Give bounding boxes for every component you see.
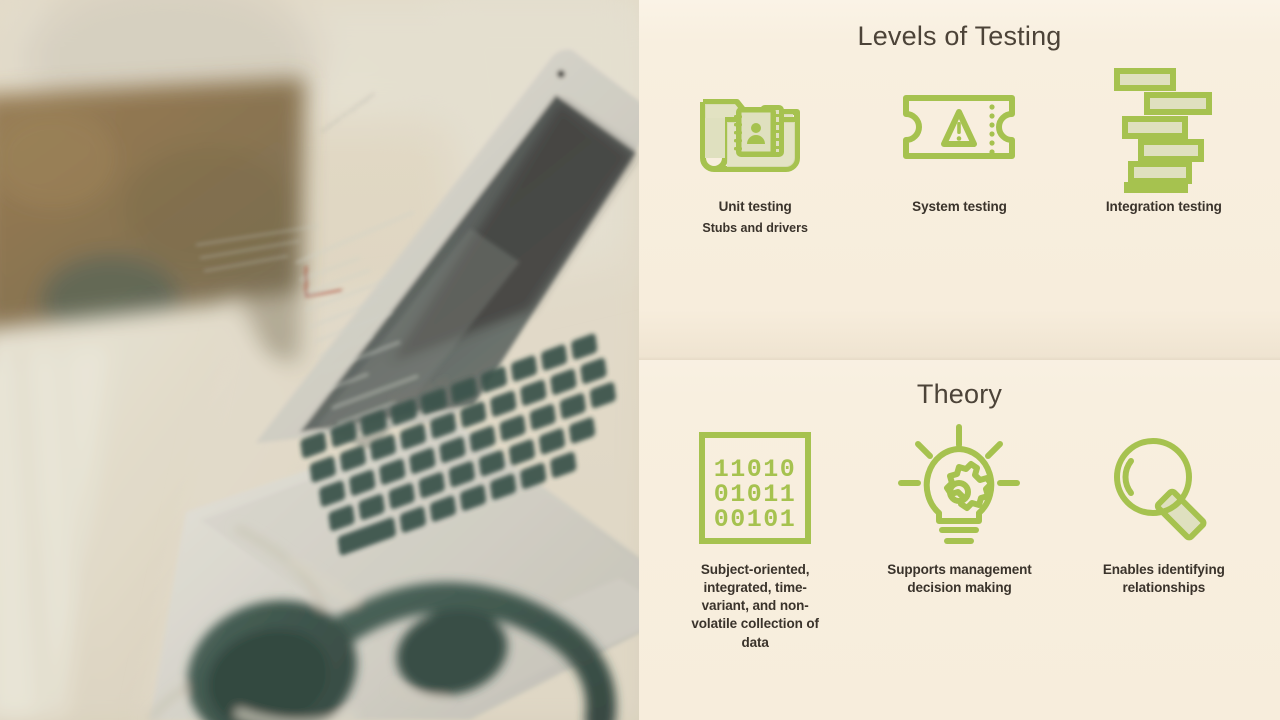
card-supports-management[interactable]: Supports management decision making (857, 416, 1061, 597)
card-label-integration-testing: Integration testing (1106, 198, 1222, 216)
page-title-theory: Theory (639, 360, 1280, 410)
slide-stage: Android ArrayAdapter MacBook Air (0, 0, 1280, 720)
card-sublabel-unit-testing: Stubs and drivers (702, 220, 808, 237)
slide-panels: Levels of Testing (639, 0, 1280, 720)
card-label-enables-identifying: Enables identifying relationships (1089, 561, 1239, 597)
photo-illustration: Android ArrayAdapter MacBook Air (0, 0, 639, 720)
folder-contacts-icon (695, 68, 815, 188)
icon-wrap-lightbulb-gear (898, 416, 1020, 561)
card-label-unit-testing: Unit testing (719, 198, 792, 216)
card-enables-identifying[interactable]: Enables identifying relationships (1062, 416, 1266, 597)
icon-wrap-integration-testing (1105, 58, 1223, 198)
icon-wrap-system-testing (896, 58, 1022, 198)
gantt-bars-icon (1105, 63, 1223, 193)
icon-wrap-unit-testing (695, 58, 815, 198)
binary-data-icon: 11010 01011 00101 (696, 429, 814, 547)
magnifier-icon (1105, 429, 1223, 547)
cards-row-theory: 11010 01011 00101 Subject-oriented, inte… (639, 416, 1280, 652)
panel-levels-of-testing: Levels of Testing (639, 0, 1280, 360)
card-label-supports-management: Supports management decision making (884, 561, 1034, 597)
card-subject-oriented-data[interactable]: 11010 01011 00101 Subject-oriented, inte… (653, 416, 857, 652)
laptop-headphones-photo: Android ArrayAdapter MacBook Air (0, 0, 639, 720)
panel-theory: Theory 11010 01011 00101 (639, 360, 1280, 720)
card-unit-testing[interactable]: Unit testing Stubs and drivers (653, 58, 857, 237)
card-label-subject-oriented-data: Subject-oriented, integrated, time-varia… (680, 561, 830, 652)
card-integration-testing[interactable]: Integration testing (1062, 58, 1266, 216)
cards-row-levels: Unit testing Stubs and drivers (639, 58, 1280, 237)
card-label-system-testing: System testing (912, 198, 1007, 216)
lightbulb-gear-icon (898, 423, 1020, 553)
icon-wrap-binary-data: 11010 01011 00101 (696, 416, 814, 561)
binary-row-3: 00101 (714, 505, 797, 534)
card-system-testing[interactable]: System testing (857, 58, 1061, 216)
page-title-levels-of-testing: Levels of Testing (639, 0, 1280, 52)
icon-wrap-magnifier (1105, 416, 1223, 561)
ticket-warning-icon (896, 80, 1022, 176)
